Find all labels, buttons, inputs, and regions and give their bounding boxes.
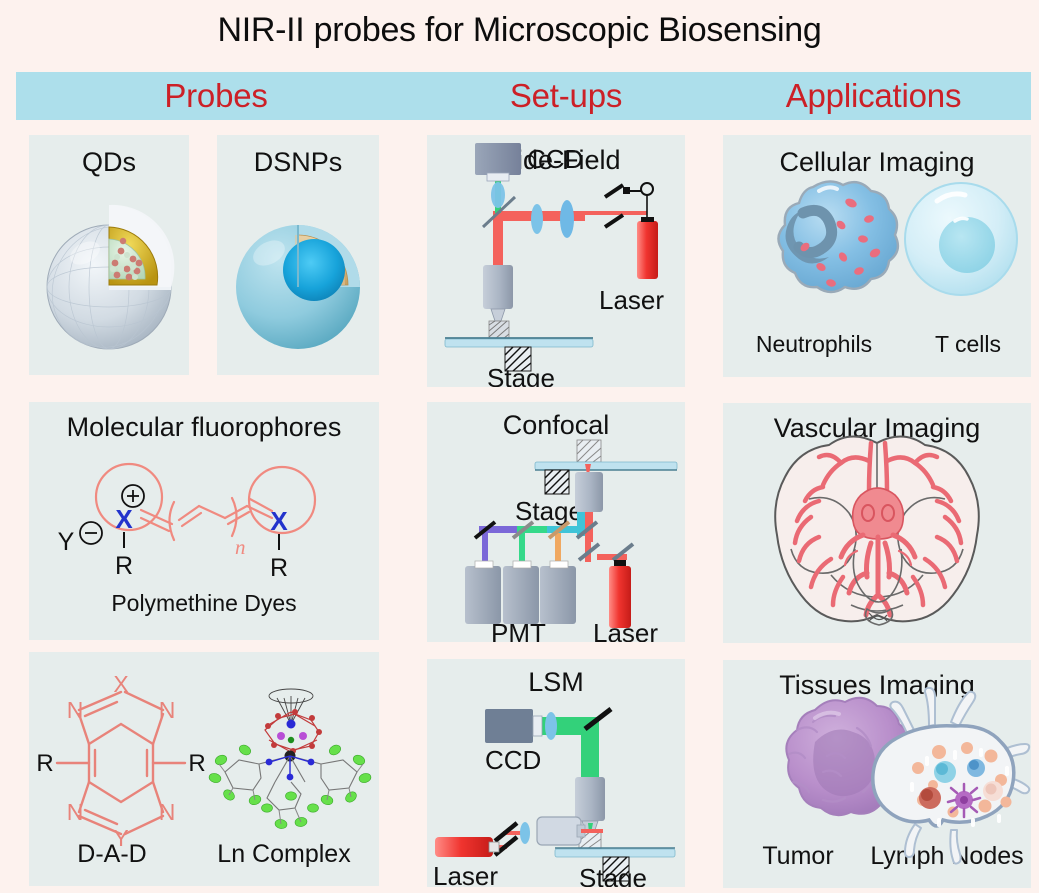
- excitation-beam-down: [493, 211, 503, 267]
- wide-field-setup-diagram: CCD Laser: [427, 135, 685, 387]
- panel-molecular-fluorophores: Molecular fluorophores Polymethine Dyes: [29, 402, 379, 640]
- dad-structure-icon: X N N N N Y R R: [29, 652, 379, 886]
- laser-source: [435, 837, 493, 857]
- column-header-band: Probes Set-ups Applications: [16, 72, 1031, 120]
- objective-lens: [483, 265, 513, 309]
- beam-expander-ring: [641, 183, 653, 195]
- panel-cellular-imaging: Cellular Imaging Neutrophils T cells: [723, 135, 1031, 377]
- scanner-unit: [537, 817, 581, 845]
- pmt-3: [540, 566, 576, 624]
- label-stage: Stage: [487, 363, 555, 387]
- nitrogen-bottom-right: N: [159, 799, 176, 825]
- stage-slide: [445, 339, 593, 347]
- panel-confocal: Confocal: [427, 402, 685, 642]
- panel-wide-field: Wide-Field: [427, 135, 685, 387]
- label-laser: Laser: [433, 861, 498, 887]
- nitrogen-bottom-left: N: [67, 799, 84, 825]
- label-ccd: CCD: [527, 144, 583, 174]
- repeat-count-label: n: [235, 535, 246, 559]
- objective-lens: [575, 472, 603, 512]
- counter-ion-label: Y: [58, 528, 75, 556]
- lymph-node-icon: [873, 688, 1029, 864]
- mirror-bottom: [605, 215, 623, 227]
- panel-qds: QDs: [29, 135, 189, 375]
- pmt-1: [465, 566, 501, 624]
- polymethine-dye-structure-icon: n X X R R Y: [29, 402, 379, 640]
- substituent-r-right: R: [270, 554, 288, 582]
- tissues-imaging-graphics: [723, 660, 1031, 888]
- t-cell-icon: [905, 183, 1017, 295]
- hetero-atom-left: X: [115, 504, 133, 534]
- panel-dad-ln-complex: D-A-D Ln Complex X N N: [29, 652, 379, 886]
- pmt-2: [503, 566, 539, 624]
- label-pmt: PMT: [491, 618, 546, 642]
- nitrogen-top-right: N: [159, 697, 176, 723]
- label-stage: Stage: [515, 496, 583, 526]
- panel-lsm: LSM CCD: [427, 659, 685, 887]
- objective-lens: [575, 777, 605, 821]
- figure-root: NIR-II probes for Microscopic Biosensing…: [0, 0, 1039, 893]
- ccd-camera-body: [475, 143, 521, 175]
- cellular-imaging-graphics: [723, 135, 1031, 377]
- lsm-setup-diagram: CCD Stage: [427, 659, 685, 887]
- substituent-r-right-dad: R: [188, 750, 205, 777]
- label-laser: Laser: [593, 618, 658, 642]
- hetero-atom-x-top: X: [113, 671, 128, 697]
- stage-slide: [535, 462, 677, 470]
- column-header-setups: Set-ups: [416, 77, 716, 115]
- expander-lens: [520, 822, 530, 844]
- substituent-r-left: R: [115, 552, 133, 580]
- lens-1: [531, 204, 543, 234]
- mirror-top: [605, 185, 623, 197]
- ccd-mount: [487, 173, 509, 181]
- dendritic-cell: [948, 784, 980, 817]
- nitrogen-top-left: N: [67, 697, 84, 723]
- figure-title: NIR-II probes for Microscopic Biosensing: [0, 0, 1039, 60]
- label-ccd: CCD: [485, 745, 541, 775]
- column-header-applications: Applications: [716, 77, 1031, 115]
- panel-dsnps: DSNPs: [217, 135, 379, 375]
- dichroic-filter: [491, 182, 505, 208]
- quantum-dot-icon: [29, 135, 189, 375]
- stage-slide: [555, 849, 675, 857]
- column-header-probes: Probes: [16, 77, 416, 115]
- label-laser: Laser: [599, 285, 664, 315]
- substituent-r-left-dad: R: [36, 750, 53, 777]
- panel-vascular-imaging: Vascular Imaging: [723, 403, 1031, 643]
- lens-2: [560, 200, 574, 238]
- neutrophil-cell-icon: [778, 181, 897, 292]
- hetero-atom-right: X: [270, 506, 288, 536]
- hetero-atom-y-bottom: Y: [113, 825, 128, 851]
- ccd-camera-body: [485, 709, 533, 743]
- ccd-mount: [533, 716, 542, 736]
- panel-tissues-imaging: Tissues Imaging Tumor Lymph Nodes: [723, 660, 1031, 888]
- label-stage: Stage: [579, 863, 647, 887]
- tube-lens: [545, 712, 557, 740]
- pmt-group: [465, 561, 576, 624]
- lanthanide-complex-icon: [208, 689, 372, 829]
- laser-source: [637, 221, 658, 279]
- brain-vasculature-icon: [723, 403, 1031, 643]
- dsnp-nanoparticle-icon: [217, 135, 379, 375]
- confocal-setup-diagram: Stage: [427, 402, 685, 642]
